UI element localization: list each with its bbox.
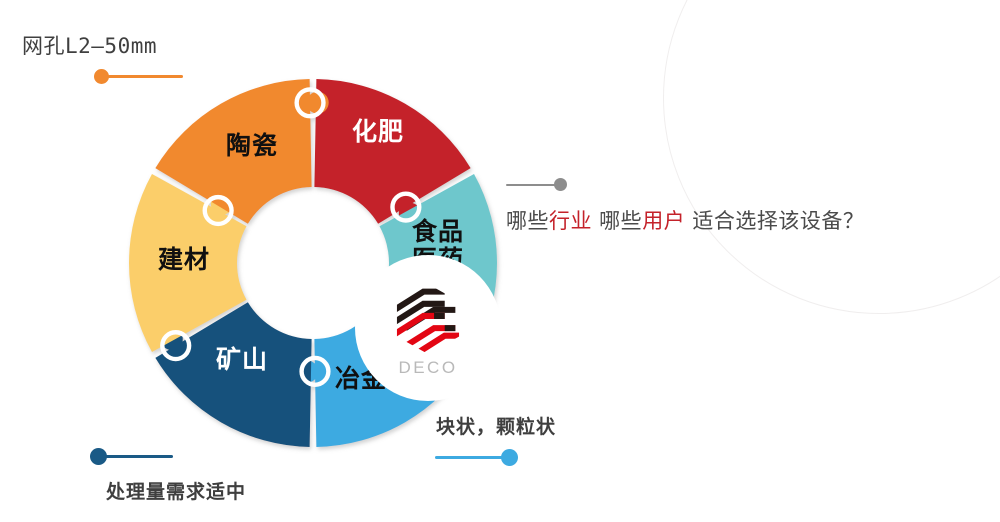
callout-capacity: 处理量需求适中	[90, 448, 246, 504]
deco-hex-logo-icon	[390, 281, 466, 357]
background-circle-decoration	[663, 0, 1000, 314]
industry-text-suffix: 适合选择该设备？	[685, 209, 864, 233]
callout-mesh-line	[108, 75, 183, 78]
callout-mesh-rule	[94, 69, 183, 84]
logo-wordmark: DECO	[398, 358, 457, 378]
callout-mesh-text: 网孔L2—50mm	[22, 30, 183, 60]
callout-capacity-line	[105, 455, 173, 458]
callout-industry-rule	[506, 178, 864, 191]
callout-industry-text: 哪些行业 哪些用户 适合选择该设备？	[506, 205, 864, 235]
callout-industry-line	[506, 184, 556, 186]
industry-donut-chart: 化肥 食品 医药 冶金 矿山 建材 陶瓷	[118, 68, 508, 458]
industry-text-prefix: 哪些	[506, 209, 549, 233]
callout-material-shape: 块状，颗粒状	[436, 412, 556, 466]
callout-industry-question: 哪些行业 哪些用户 适合选择该设备？	[506, 178, 864, 235]
industry-text-middle: 哪些	[592, 209, 642, 233]
callout-capacity-text: 处理量需求适中	[106, 477, 246, 504]
callout-industry-dot	[554, 178, 567, 191]
industry-text-highlight-2: 用户	[642, 209, 685, 233]
callout-mesh-size: 网孔L2—50mm	[22, 30, 183, 84]
infographic-canvas: 化肥 食品 医药 冶金 矿山 建材 陶瓷	[0, 0, 1000, 522]
callout-shape-rule	[435, 449, 556, 466]
callout-mesh-dot	[94, 69, 109, 84]
callout-shape-text: 块状，颗粒状	[436, 412, 556, 439]
callout-capacity-rule	[90, 448, 246, 465]
callout-shape-line	[435, 456, 503, 459]
center-logo-hub: DECO	[355, 255, 501, 401]
industry-text-highlight-1: 行业	[549, 209, 592, 233]
callout-shape-dot	[501, 449, 518, 466]
